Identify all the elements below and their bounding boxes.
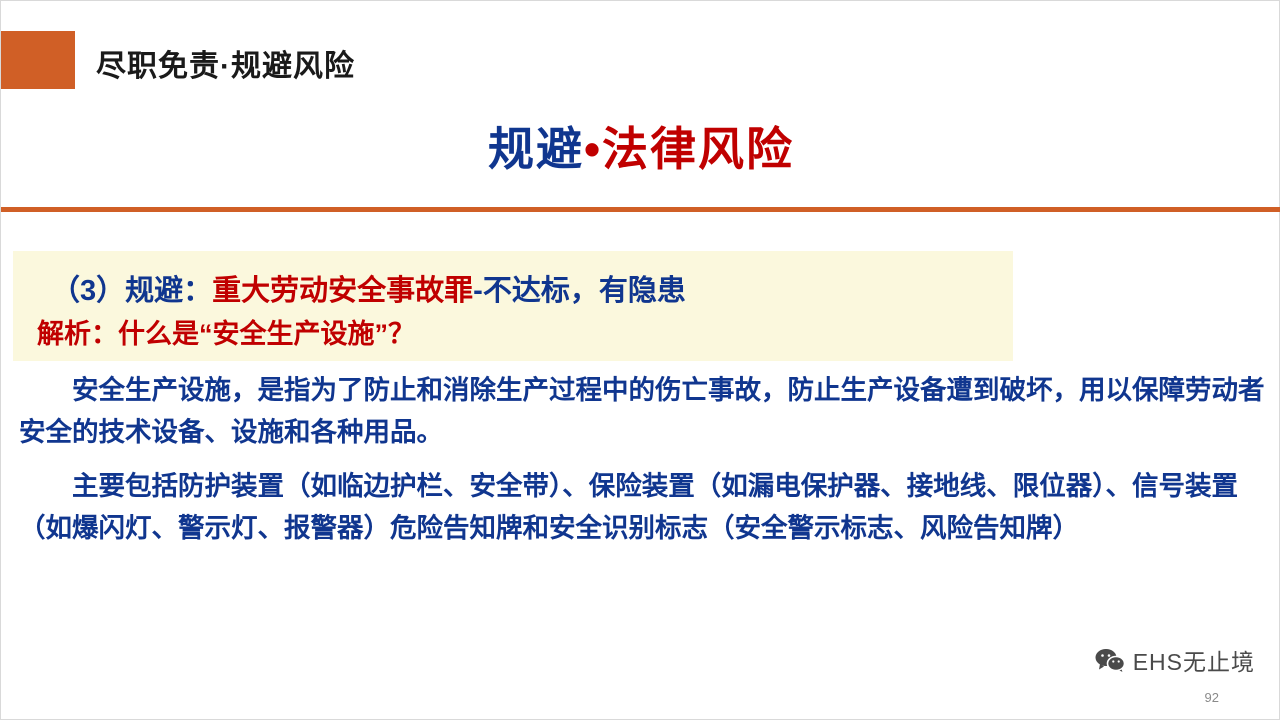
highlight-heading-suffix: -不达标，有隐患: [473, 275, 686, 307]
page-title: 规避•法律风险: [1, 113, 1280, 179]
header-kicker: 尽职免责·规避风险: [96, 41, 355, 85]
body-paragraph-2: 主要包括防护装置（如临边护栏、安全带）、保险装置（如漏电保护器、接地线、限位器）…: [19, 465, 1267, 549]
page-number: 92: [1205, 690, 1219, 705]
highlight-heading: （3）规避：重大劳动安全事故罪-不达标，有隐患: [51, 267, 686, 309]
body-content: 安全生产设施，是指为了防止和消除生产过程中的伤亡事故，防止生产设备遭到破坏，用以…: [19, 369, 1267, 549]
page-title-part1: 规避: [488, 123, 584, 175]
highlight-heading-emphasis: 重大劳动安全事故罪: [212, 275, 473, 307]
footer-brand-label: EHS无止境: [1133, 643, 1255, 677]
slide: 尽职免责·规避风险 规避•法律风险 （3）规避：重大劳动安全事故罪-不达标，有隐…: [0, 0, 1280, 720]
highlight-subheading: 解析：什么是“安全生产设施”？: [37, 312, 415, 351]
footer-brand: EHS无止境: [1095, 643, 1255, 677]
page-title-part2: 法律风险: [602, 123, 794, 175]
header-divider: [1, 207, 1280, 212]
body-paragraph-1: 安全生产设施，是指为了防止和消除生产过程中的伤亡事故，防止生产设备遭到破坏，用以…: [19, 369, 1267, 453]
header-accent-block: [1, 31, 75, 89]
highlight-heading-prefix: （3）规避：: [51, 275, 212, 307]
wechat-icon: [1095, 648, 1125, 673]
page-title-separator: •: [584, 123, 602, 175]
